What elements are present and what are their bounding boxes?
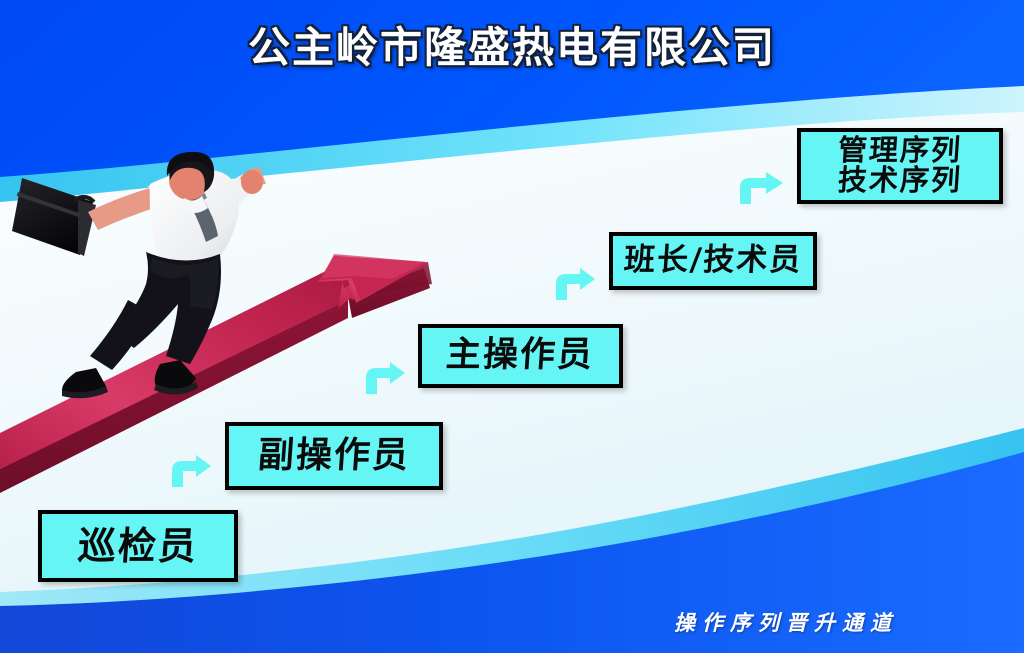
turn-right-arrow-3 xyxy=(552,268,596,302)
level-box-management-technical-track[interactable]: 管理序列 技术序列 xyxy=(797,128,1003,204)
level-label-inspector: 巡检员 xyxy=(77,527,200,566)
briefcase xyxy=(12,178,96,256)
promotion-path-poster: 巡检员 副操作员 主操作员 班长/技术员 管理序列 技术序列 公主岭市隆盛热电有… xyxy=(0,0,1024,653)
level-label-technical-track: 技术序列 xyxy=(837,166,963,196)
level-label-assistant-operator: 副操作员 xyxy=(257,438,412,475)
level-box-inspector[interactable]: 巡检员 xyxy=(38,510,238,582)
footer-caption: 操作序列晋升通道 xyxy=(674,607,898,637)
turn-right-arrow-4 xyxy=(736,172,784,206)
level-box-assistant-operator[interactable]: 副操作员 xyxy=(225,422,443,490)
level-label-chief-operator: 主操作员 xyxy=(445,338,596,374)
turn-right-arrow-1 xyxy=(168,455,212,489)
turn-right-arrow-2 xyxy=(362,362,406,396)
level-label-management-track: 管理序列 xyxy=(837,136,963,166)
page-title: 公主岭市隆盛热电有限公司 xyxy=(0,14,1024,75)
level-label-shift-leader-technician: 班长/技术员 xyxy=(623,245,804,277)
level-box-chief-operator[interactable]: 主操作员 xyxy=(418,324,623,388)
level-box-shift-leader-technician[interactable]: 班长/技术员 xyxy=(609,232,817,290)
